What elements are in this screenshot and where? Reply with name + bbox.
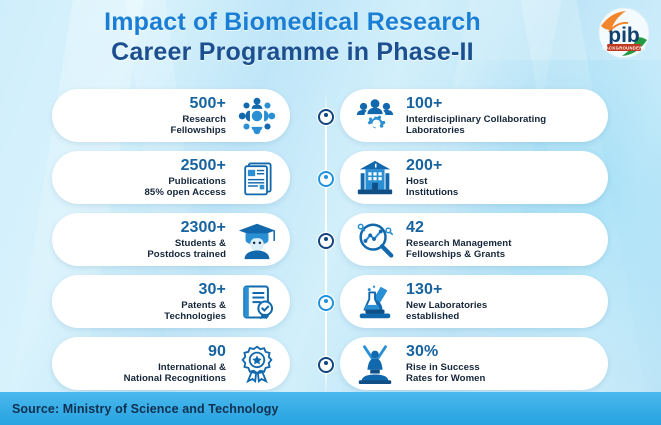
stat-label-line-1: Interdisciplinary Collaborating — [406, 114, 546, 125]
stat-label-line-2: Fellowships & Grants — [406, 249, 511, 260]
page-title: Impact of Biomedical Research Career Pro… — [0, 8, 585, 67]
stat-label-line-2: Technologies — [164, 311, 226, 322]
magnifier-chart-icon — [352, 218, 398, 262]
stat-label-line-1: Rise in Success — [406, 362, 485, 373]
stat-value: 130+ — [406, 281, 487, 300]
stat-card-research-management[interactable]: 42 Research Management Fellowships & Gra… — [340, 213, 608, 266]
stat-label-line-1: Publications — [145, 176, 226, 187]
newspaper-icon — [234, 156, 280, 200]
award-ribbon-icon — [234, 342, 280, 386]
stat-value: 30% — [406, 343, 485, 362]
infographic-root: Impact of Biomedical Research Career Pro… — [0, 0, 661, 425]
stat-label-line-1: International & — [124, 362, 226, 373]
pib-logo: pib BACKGROUNDERS — [595, 6, 653, 61]
stat-label-line-2: Laboratories — [406, 125, 546, 136]
graduate-icon — [234, 218, 280, 262]
stat-card-research-fellowships[interactable]: 500+ Research Fellowships — [52, 89, 290, 142]
stat-card-women-success-rate[interactable]: 30% Rise in Success Rates for Women — [340, 337, 608, 390]
stat-label-line-1: Students & — [147, 238, 226, 249]
stat-label-line-1: Patents & — [164, 300, 226, 311]
institution-building-icon — [352, 156, 398, 200]
header: Impact of Biomedical Research Career Pro… — [0, 0, 661, 86]
stat-label-line-1: Host — [406, 176, 458, 187]
right-statistics-column: 100+ Interdisciplinary Collaborating Lab… — [340, 89, 608, 399]
stat-card-recognitions[interactable]: 90 International & National Recognitions — [52, 337, 290, 390]
stat-value: 90 — [124, 343, 226, 362]
stat-card-host-institutions[interactable]: 200+ Host Institutions — [340, 151, 608, 204]
pib-logo-icon: pib BACKGROUNDERS — [595, 6, 653, 61]
microscope-flask-icon — [352, 280, 398, 324]
stat-value: 500+ — [171, 95, 226, 114]
title-line-2: Career Programme in Phase-II — [0, 38, 585, 68]
stat-card-students-postdocs[interactable]: 2300+ Students & Postdocs trained — [52, 213, 290, 266]
footer-band: Source: Ministry of Science and Technolo… — [0, 392, 661, 425]
stat-label-line-2: 85% open Access — [145, 187, 226, 198]
svg-text:BACKGROUNDERS: BACKGROUNDERS — [602, 46, 645, 51]
source-text: Source: Ministry of Science and Technolo… — [0, 402, 279, 416]
stat-value: 100+ — [406, 95, 546, 114]
stat-label-line-1: New Laboratories — [406, 300, 487, 311]
stat-card-patents-technologies[interactable]: 30+ Patents & Technologies — [52, 275, 290, 328]
left-statistics-column: 500+ Research Fellowships — [52, 89, 290, 399]
stat-value: 30+ — [164, 281, 226, 300]
stat-label-line-2: National Recognitions — [124, 373, 226, 384]
stat-label-line-1: Research — [171, 114, 226, 125]
stat-label-line-1: Research Management — [406, 238, 511, 249]
connector-node — [317, 170, 335, 188]
stat-card-collaborating-labs[interactable]: 100+ Interdisciplinary Collaborating Lab… — [340, 89, 608, 142]
stat-value: 200+ — [406, 157, 458, 176]
stat-card-new-laboratories[interactable]: 130+ New Laboratories established — [340, 275, 608, 328]
connector-node — [317, 108, 335, 126]
stat-label-line-2: Fellowships — [171, 125, 226, 136]
stat-value: 2500+ — [145, 157, 226, 176]
certificate-icon — [234, 280, 280, 324]
stat-label-line-2: Rates for Women — [406, 373, 485, 384]
woman-podium-icon — [352, 342, 398, 386]
people-network-icon — [234, 94, 280, 138]
title-line-1: Impact of Biomedical Research — [0, 8, 585, 38]
stat-label-line-2: Institutions — [406, 187, 458, 198]
stat-card-publications[interactable]: 2500+ Publications 85% open Access — [52, 151, 290, 204]
connector-node — [317, 294, 335, 312]
stat-label-line-2: Postdocs trained — [147, 249, 226, 260]
stat-label-line-2: established — [406, 311, 487, 322]
stat-value: 42 — [406, 219, 511, 238]
stat-value: 2300+ — [147, 219, 226, 238]
connector-node — [317, 356, 335, 374]
svg-text:pib: pib — [608, 24, 640, 47]
connector-node — [317, 232, 335, 250]
team-gear-icon — [352, 94, 398, 138]
